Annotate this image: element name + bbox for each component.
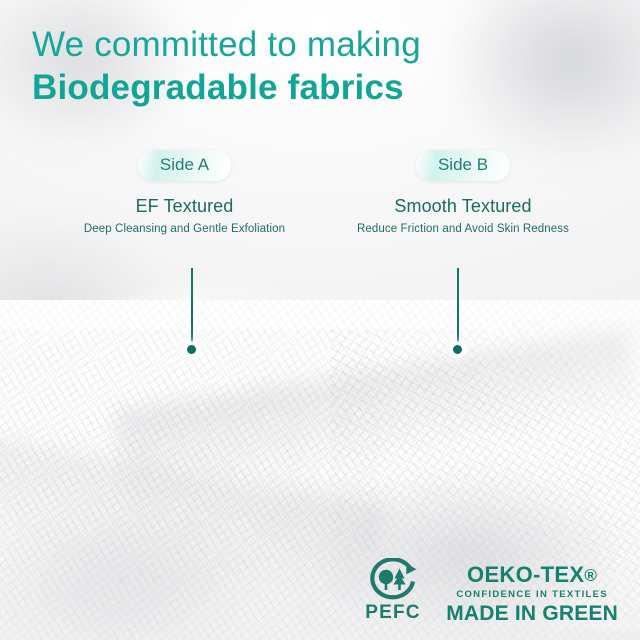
callout-side-b: Side B Smooth Textured Reduce Friction a…	[347, 150, 579, 237]
headline-line-1: We committed to making	[32, 24, 421, 66]
oeko-tex-logo: OEKO-TEX® CONFIDENCE IN TEXTILES MADE IN…	[446, 562, 618, 626]
oeko-tex-tagline: CONFIDENCE IN TEXTILES	[446, 588, 618, 601]
badge-side-a: Side A	[138, 150, 231, 181]
registered-trademark-icon: ®	[584, 566, 597, 585]
callout-title-side-b: Smooth Textured	[347, 195, 579, 217]
oeko-tex-wordmark: OEKO-TEX	[467, 562, 584, 587]
headline-line-2: Biodegradable fabrics	[32, 66, 421, 110]
oeko-tex-made-in-green: MADE IN GREEN	[446, 602, 618, 626]
pointer-line-side-a	[191, 268, 193, 350]
pefc-trees-circle-icon	[358, 558, 428, 602]
badge-side-b: Side B	[416, 150, 510, 181]
callout-side-a: Side A EF Textured Deep Cleansing and Ge…	[72, 150, 297, 237]
pointer-line-side-b	[457, 268, 459, 350]
callout-title-side-a: EF Textured	[72, 195, 297, 217]
pefc-logo: PEFC	[358, 558, 428, 623]
callout-description-side-b: Reduce Friction and Avoid Skin Redness	[347, 222, 579, 237]
pointer-dot-side-b	[453, 345, 462, 354]
callout-description-side-a: Deep Cleansing and Gentle Exfoliation	[72, 222, 297, 237]
oeko-tex-name: OEKO-TEX®	[446, 562, 618, 588]
pointer-dot-side-a	[187, 345, 196, 354]
promo-image: We committed to making Biodegradable fab…	[0, 0, 640, 640]
headline: We committed to making Biodegradable fab…	[32, 24, 421, 110]
pefc-wordmark: PEFC	[358, 603, 428, 623]
fabric-shadow-bottom-left	[0, 480, 300, 640]
